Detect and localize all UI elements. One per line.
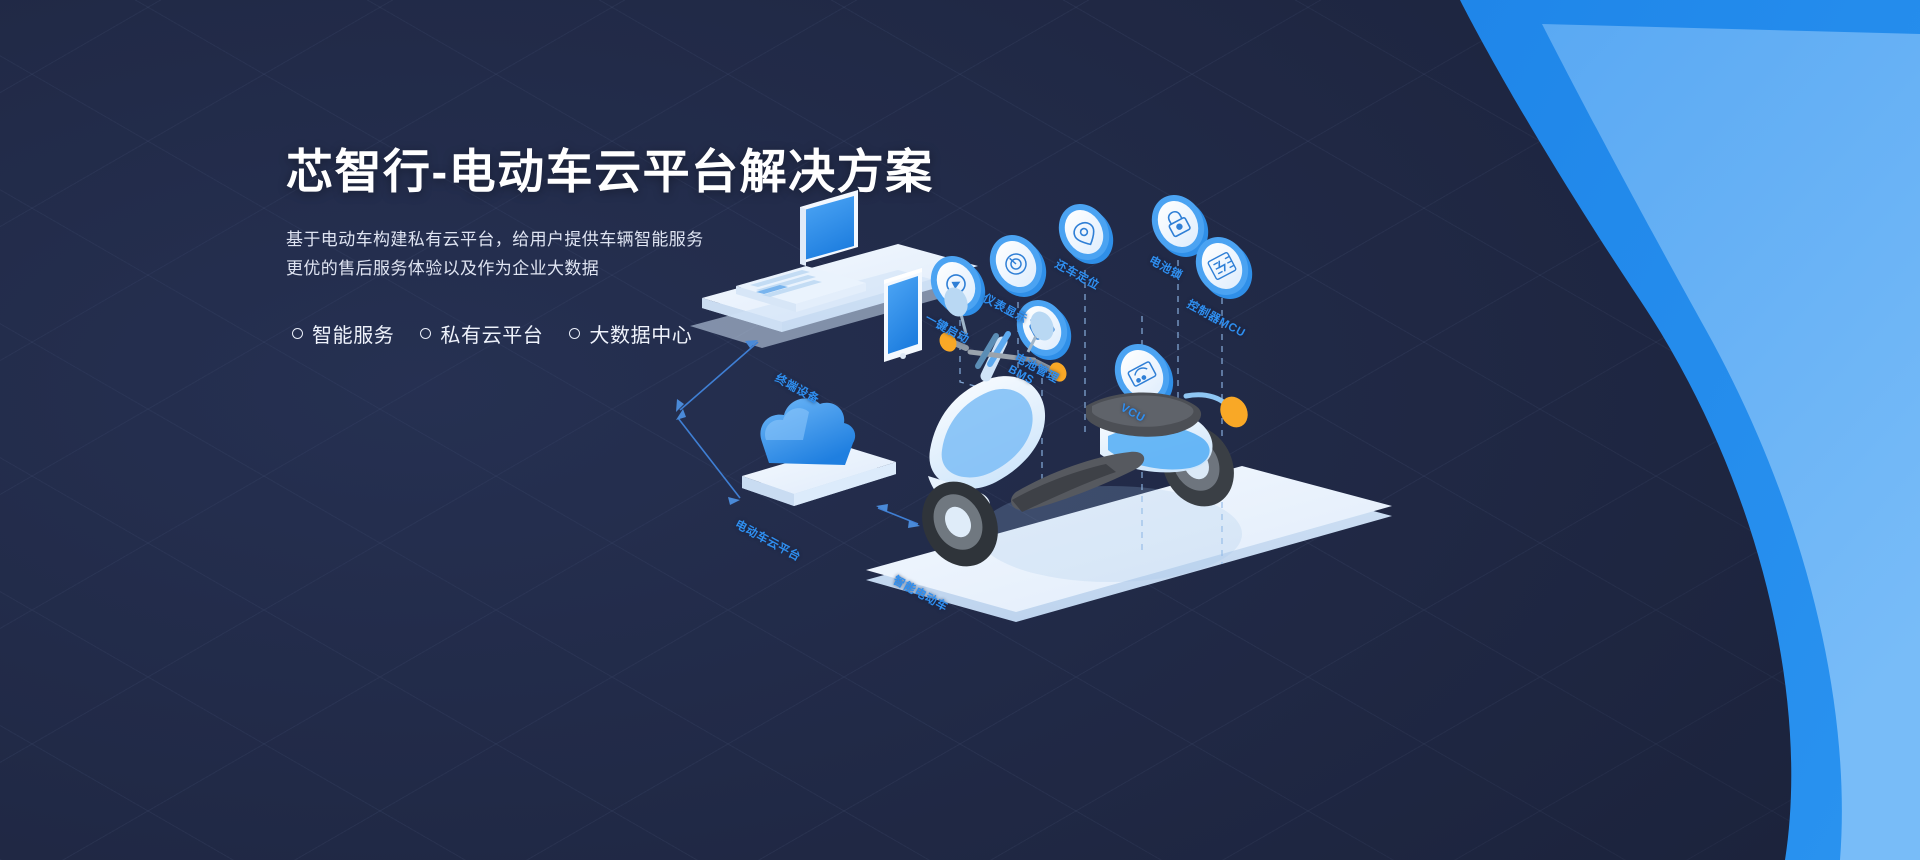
circle-outline-icon (420, 328, 431, 339)
feature-tag-label: 智能服务 (312, 319, 394, 348)
laptop-illustration (736, 190, 866, 312)
cloud-icon (760, 398, 855, 465)
phone-illustration (884, 268, 922, 362)
hero-banner: 芯智行-电动车云平台解决方案 基于电动车构建私有云平台，给用户提供车辆智能服务 … (0, 0, 1920, 860)
illustration-canvas (630, 120, 1920, 860)
feature-tag-private-cloud[interactable]: 私有云平台 (420, 319, 543, 348)
feature-tag-smart-service[interactable]: 智能服务 (292, 319, 394, 348)
feature-tag-label: 私有云平台 (440, 319, 543, 348)
circle-outline-icon (292, 328, 303, 339)
isometric-illustration: 终端设备 电动车云平台 智能电动车 一键启动 仪表显示 还车定位 电池管理 BM… (630, 120, 1920, 860)
circle-outline-icon (569, 328, 580, 339)
